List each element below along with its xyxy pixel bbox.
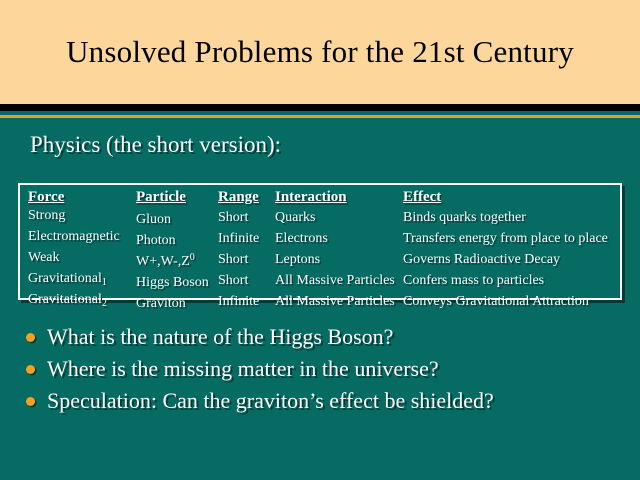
cell-range: Infinite: [218, 291, 275, 312]
list-item: What is the nature of the Higgs Boson?: [26, 322, 626, 354]
table-header-row: Force Particle Range Interaction Effect: [28, 189, 608, 207]
cell-particle-text: Photon: [136, 233, 176, 248]
cell-effect: Conveys Gravitational Attraction: [403, 291, 608, 312]
list-item-label: What is the nature of the Higgs Boson?: [47, 322, 393, 352]
cell-force: Electromagnetic: [28, 228, 136, 249]
cell-force-text: Electromagnetic: [28, 229, 120, 244]
cell-force: Gravitational2: [28, 291, 136, 312]
cell-interaction: All Massive Particles: [275, 270, 403, 291]
cell-range: Infinite: [218, 228, 275, 249]
cell-particle-text: W+,W-,Z: [136, 254, 190, 269]
cell-range: Short: [218, 207, 275, 228]
open-questions-list: What is the nature of the Higgs Boson? W…: [26, 322, 626, 418]
cell-effect: Binds quarks together: [403, 207, 608, 228]
cell-interaction: Quarks: [275, 207, 403, 228]
cell-force-text: Strong: [28, 208, 65, 223]
divider-black: [0, 104, 640, 111]
column-header-interaction: Interaction: [275, 189, 403, 207]
cell-force-text: Gravitational: [28, 292, 102, 307]
cell-interaction: Leptons: [275, 249, 403, 270]
page-title: Unsolved Problems for the 21st Century: [66, 34, 574, 70]
bullet-dot-icon: [26, 397, 35, 406]
column-header-particle: Particle: [136, 189, 218, 207]
cell-particle: Higgs Boson: [136, 270, 218, 291]
list-item-label: Where is the missing matter in the unive…: [47, 354, 439, 384]
bullet-dot-icon: [26, 365, 35, 374]
cell-force-text: Gravitational: [28, 271, 102, 286]
cell-particle-text: Gluon: [136, 212, 171, 227]
cell-force-text: Weak: [28, 250, 60, 265]
table-body: Strong Gluon Short Quarks Binds quarks t…: [28, 207, 608, 312]
table-row: Strong Gluon Short Quarks Binds quarks t…: [28, 207, 608, 228]
column-header-force: Force: [28, 189, 136, 207]
cell-range: Short: [218, 249, 275, 270]
table-row: Electromagnetic Photon Infinite Electron…: [28, 228, 608, 249]
cell-particle: Gluon: [136, 207, 218, 228]
table-row: Weak W+,W-,Z0 Short Leptons Governs Radi…: [28, 249, 608, 270]
cell-particle: Graviton: [136, 291, 218, 312]
cell-force: Gravitational1: [28, 270, 136, 291]
cell-effect: Transfers energy from place to place: [403, 228, 608, 249]
cell-particle: W+,W-,Z0: [136, 249, 218, 270]
divider-gold-accent: [0, 115, 640, 118]
bullet-dot-icon: [26, 333, 35, 342]
cell-interaction: Electrons: [275, 228, 403, 249]
cell-particle-superscript: 0: [190, 252, 195, 263]
column-header-range: Range: [218, 189, 275, 207]
cell-interaction: All Massive Particles: [275, 291, 403, 312]
cell-force: Weak: [28, 249, 136, 270]
cell-force: Strong: [28, 207, 136, 228]
table-row: Gravitational1 Higgs Boson Short All Mas…: [28, 270, 608, 291]
cell-force-subscript: 2: [102, 298, 107, 309]
title-banner: Unsolved Problems for the 21st Century: [0, 0, 640, 104]
column-header-effect: Effect: [403, 189, 608, 207]
list-item: Speculation: Can the graviton’s effect b…: [26, 386, 626, 418]
cell-effect: Governs Radioactive Decay: [403, 249, 608, 270]
table-row: Gravitational2 Graviton Infinite All Mas…: [28, 291, 608, 312]
cell-range: Short: [218, 270, 275, 291]
cell-force-subscript: 1: [102, 277, 107, 288]
list-item-label: Speculation: Can the graviton’s effect b…: [47, 386, 494, 416]
cell-effect: Confers mass to particles: [403, 270, 608, 291]
physics-forces-table: Force Particle Range Interaction Effect …: [28, 189, 608, 312]
list-item: Where is the missing matter in the unive…: [26, 354, 626, 386]
physics-table-panel: Force Particle Range Interaction Effect …: [18, 183, 622, 300]
cell-particle: Photon: [136, 228, 218, 249]
cell-particle-text: Higgs Boson: [136, 275, 209, 290]
section-subtitle: Physics (the short version):: [30, 132, 281, 158]
cell-particle-text: Graviton: [136, 296, 186, 311]
